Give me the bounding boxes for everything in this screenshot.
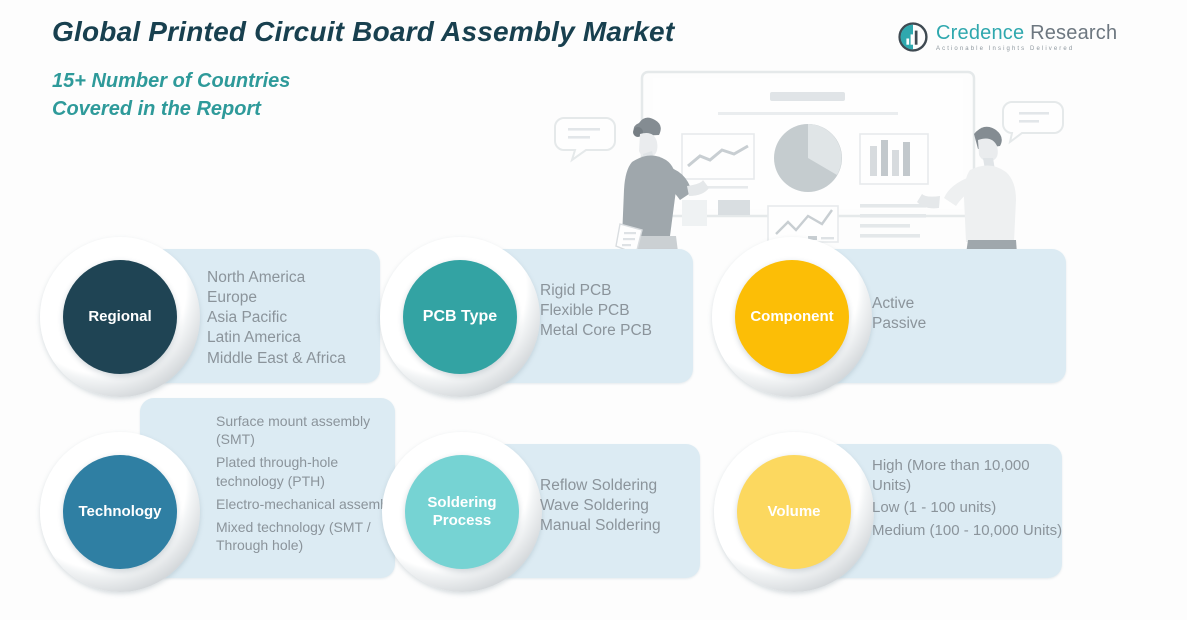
list-item: Rigid PCB [540,281,710,301]
segment-items: North America Europe Asia Pacific Latin … [207,268,387,369]
page-title: Global Printed Circuit Board Assembly Ma… [52,16,674,48]
list-item: Mixed technology (SMT / Through hole) [216,518,401,554]
segment-items: Surface mount assembly (SMT) Plated thro… [216,412,401,559]
segment-items: Reflow Soldering Wave Soldering Manual S… [540,476,720,536]
list-item: Asia Pacific [207,308,387,328]
logo-name-credence: Credence [936,22,1024,44]
list-item: Passive [872,314,1052,334]
list-item: Medium (100 - 10,000 Units) [872,521,1067,541]
list-item: Surface mount assembly (SMT) [216,412,401,448]
circle-bar-chart-icon [898,22,928,52]
segment-circle-label[interactable]: Regional [63,260,177,374]
list-item: Low (1 - 100 units) [872,498,1067,518]
list-item: Wave Soldering [540,496,720,516]
logo-name: Credence Research [936,23,1117,43]
list-item: Europe [207,288,387,308]
list-item: North America [207,268,387,288]
infographic-canvas: Global Printed Circuit Board Assembly Ma… [0,0,1187,620]
logo-name-research: Research [1030,22,1117,44]
segment-circle-label[interactable]: Component [735,260,849,374]
segment-circle-label[interactable]: Volume [737,455,851,569]
segment-items: High (More than 10,000 Units) Low (1 - 1… [872,456,1067,543]
list-item: Active [872,294,1052,314]
page-subtitle: 15+ Number of Countries Covered in the R… [52,68,290,123]
segment-items: Rigid PCB Flexible PCB Metal Core PCB [540,281,710,341]
list-item: Flexible PCB [540,301,710,321]
segment-circle-label[interactable]: PCB Type [403,260,517,374]
list-item: Manual Soldering [540,516,720,536]
business-analytics-illustration [540,58,1080,268]
list-item: Latin America [207,328,387,348]
list-item: Middle East & Africa [207,349,387,369]
logo-wordmark: Credence Research Actionable Insights De… [936,23,1117,52]
segment-circle-label[interactable]: Soldering Process [405,455,519,569]
credence-research-logo: Credence Research Actionable Insights De… [898,22,1117,52]
list-item: Reflow Soldering [540,476,720,496]
list-item: Plated through-hole technology (PTH) [216,453,401,489]
segment-circle-label[interactable]: Technology [63,455,177,569]
segment-items: Active Passive [872,294,1052,334]
list-item: Electro-mechanical assembly [216,495,401,513]
logo-tagline: Actionable Insights Delivered [936,46,1117,52]
list-item: Metal Core PCB [540,321,710,341]
list-item: High (More than 10,000 Units) [872,456,1067,495]
